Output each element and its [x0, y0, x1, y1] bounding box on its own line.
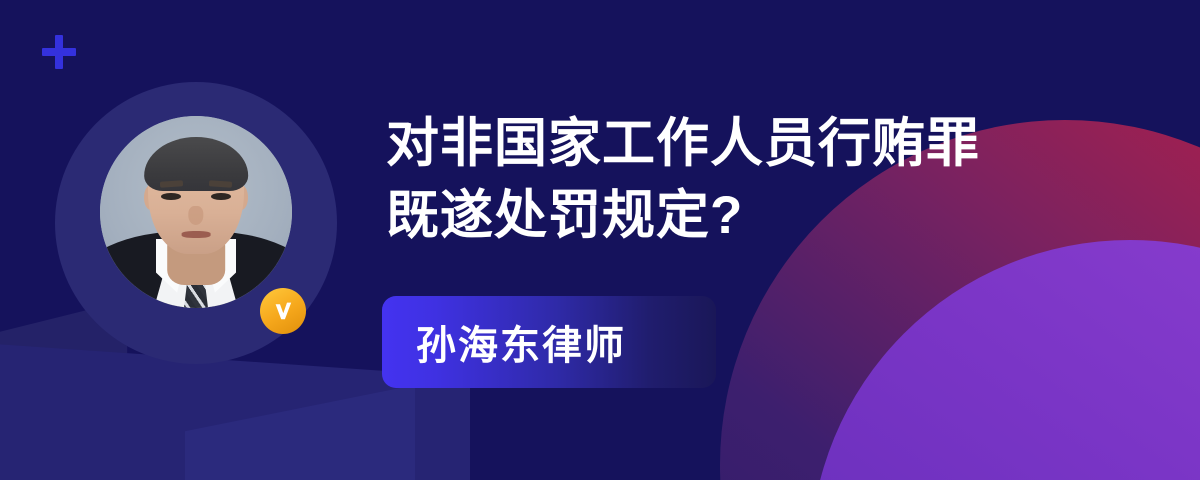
- portrait-mouth: [182, 231, 211, 238]
- avatar-photo: [100, 116, 292, 308]
- plus-icon-bar-vertical: [55, 35, 63, 69]
- portrait-eye-right: [211, 193, 230, 200]
- plus-icon: [42, 35, 76, 69]
- lawyer-qa-banner: 对非国家工作人员行贿罪 既遂处罚规定? 孙海东律师: [0, 0, 1200, 480]
- avatar: [55, 82, 337, 372]
- lawyer-name-label: 孙海东律师: [416, 313, 626, 371]
- portrait-eye-left: [161, 193, 180, 200]
- lawyer-name-button[interactable]: 孙海东律师: [382, 296, 716, 388]
- page-title: 对非国家工作人员行贿罪 既遂处罚规定?: [386, 108, 1146, 252]
- verified-badge-icon: [260, 288, 306, 334]
- text-content: 对非国家工作人员行贿罪 既遂处罚规定?: [386, 108, 1146, 252]
